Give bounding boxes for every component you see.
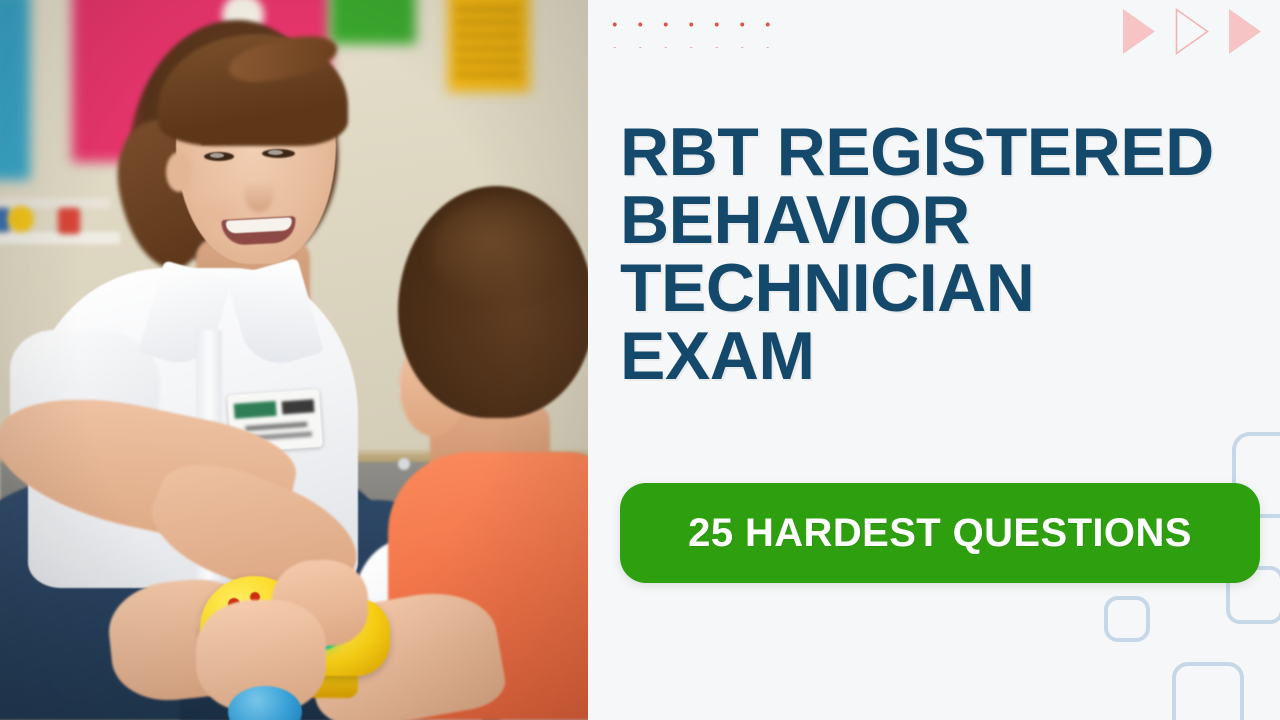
title-line-1: RBT REGISTERED xyxy=(620,118,1260,186)
therapist-nose xyxy=(244,168,274,212)
triangle-filled-2-icon xyxy=(1228,8,1262,55)
cta-label: 25 HARDEST QUESTIONS xyxy=(688,511,1192,556)
dot-grid-decoration xyxy=(600,8,782,48)
thumbnail-stage: RBT REGISTERED BEHAVIOR TECHNICIAN EXAM … xyxy=(0,0,1280,720)
page-title: RBT REGISTERED BEHAVIOR TECHNICIAN EXAM xyxy=(620,118,1260,390)
triangle-filled-1-icon xyxy=(1122,8,1156,55)
therapist-ear xyxy=(166,152,192,192)
decoration-square-3 xyxy=(1104,596,1150,642)
decoration-square-4 xyxy=(1172,662,1244,720)
title-line-3: TECHNICIAN xyxy=(620,254,1260,322)
triangle-decoration-group xyxy=(1122,8,1262,55)
poster-text-lines xyxy=(455,8,521,84)
badge-logo-text xyxy=(282,399,315,414)
triangle-outline-icon xyxy=(1175,8,1209,55)
hardest-questions-button[interactable]: 25 HARDEST QUESTIONS xyxy=(620,483,1260,583)
hero-photo xyxy=(0,0,588,720)
poster-cyan xyxy=(0,0,30,180)
badge-logo-mark xyxy=(234,401,277,419)
shelf-toy-red xyxy=(58,208,80,234)
poster-green xyxy=(330,0,416,44)
therapist-eye-highlight-right xyxy=(268,150,283,155)
content-panel: RBT REGISTERED BEHAVIOR TECHNICIAN EXAM … xyxy=(588,0,1280,720)
shelf-toy-yellow xyxy=(8,206,34,232)
title-line-2: BEHAVIOR xyxy=(620,186,1260,254)
shirt-button-2 xyxy=(398,458,410,470)
child-hair-highlight xyxy=(430,196,580,306)
therapist-eye-highlight-left xyxy=(210,153,224,158)
title-line-4: EXAM xyxy=(620,322,1260,390)
badge-line-1 xyxy=(245,422,307,431)
